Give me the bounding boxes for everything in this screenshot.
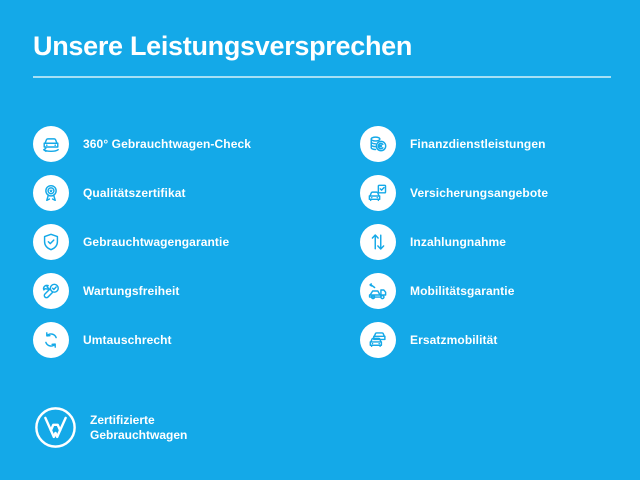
list-item-label: Umtauschrecht	[83, 333, 172, 348]
list-item: Finanzdienstleistungen	[360, 126, 630, 162]
list-item-label: Ersatzmobilität	[410, 333, 498, 348]
list-item: Versicherungsangebote	[360, 175, 630, 211]
title-divider	[33, 76, 611, 78]
list-item-label: Finanzdienstleistungen	[410, 137, 546, 152]
list-item: Gebrauchtwagengarantie	[33, 224, 333, 260]
list-item-label: Gebrauchtwagengarantie	[83, 235, 229, 250]
brand-text-line2: Gebrauchtwagen	[90, 428, 187, 443]
promise-column-left: 360° Gebrauchtwagen-Check Qualitätszerti…	[33, 126, 333, 358]
award-rosette-icon	[33, 175, 69, 211]
coins-euro-icon	[360, 126, 396, 162]
brand-text-line1: Zertifizierte	[90, 413, 187, 428]
list-item: Ersatzmobilität	[360, 322, 630, 358]
list-item-label: Mobilitätsgarantie	[410, 284, 514, 299]
list-item-label: 360° Gebrauchtwagen-Check	[83, 137, 251, 152]
exchange-arrows-icon	[33, 322, 69, 358]
vw-logo-icon	[33, 405, 78, 450]
tow-truck-icon	[360, 273, 396, 309]
brand-text: Zertifizierte Gebrauchtwagen	[90, 413, 187, 443]
promise-poster: Unsere Leistungsversprechen 360° Gebrauc…	[0, 0, 640, 480]
list-item-label: Versicherungsangebote	[410, 186, 548, 201]
list-item: Wartungsfreiheit	[33, 273, 333, 309]
list-item-label: Wartungsfreiheit	[83, 284, 180, 299]
list-item-label: Qualitätszertifikat	[83, 186, 186, 201]
page-title: Unsere Leistungsversprechen	[33, 30, 611, 62]
wrench-check-icon	[33, 273, 69, 309]
brand-lockup: Zertifizierte Gebrauchtwagen	[33, 405, 187, 450]
list-item: Qualitätszertifikat	[33, 175, 333, 211]
arrows-up-down-icon	[360, 224, 396, 260]
two-cars-icon	[360, 322, 396, 358]
list-item-label: Inzahlungnahme	[410, 235, 506, 250]
shield-check-icon	[33, 224, 69, 260]
list-item: Umtauschrecht	[33, 322, 333, 358]
list-item: Inzahlungnahme	[360, 224, 630, 260]
car-360-check-icon	[33, 126, 69, 162]
list-item: 360° Gebrauchtwagen-Check	[33, 126, 333, 162]
car-document-check-icon	[360, 175, 396, 211]
header: Unsere Leistungsversprechen	[33, 30, 611, 78]
promise-column-right: Finanzdienstleistungen Versicherungsange…	[360, 126, 630, 358]
list-item: Mobilitätsgarantie	[360, 273, 630, 309]
